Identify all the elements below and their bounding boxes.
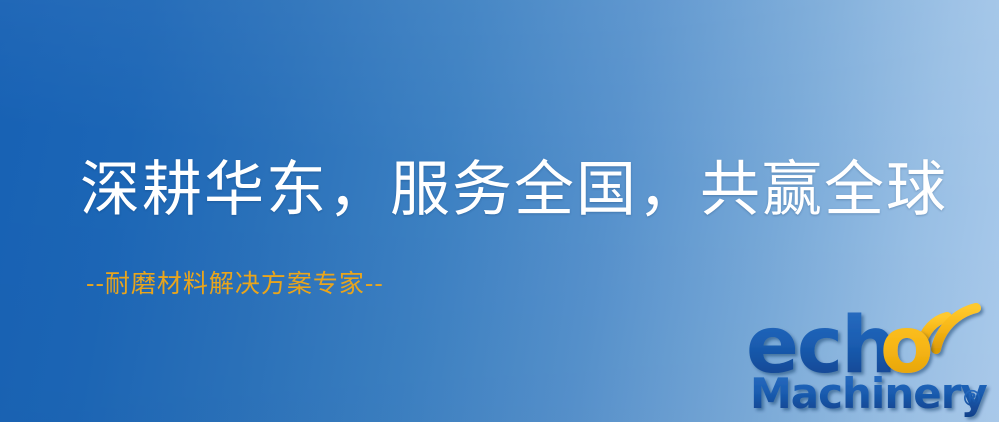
echo-machinery-logo: ech o Machinery ®: [746, 296, 996, 418]
registered-trademark-icon: ®: [961, 387, 983, 412]
banner-subtitle: --耐磨材料解决方案专家--: [86, 268, 384, 300]
logo-text-machinery: Machinery: [750, 369, 987, 418]
promo-banner: 深耕华东，服务全国，共赢全球 --耐磨材料解决方案专家--: [0, 0, 999, 422]
logo-svg: ech o Machinery ®: [746, 296, 996, 418]
banner-headline: 深耕华东，服务全国，共赢全球: [80, 155, 948, 225]
